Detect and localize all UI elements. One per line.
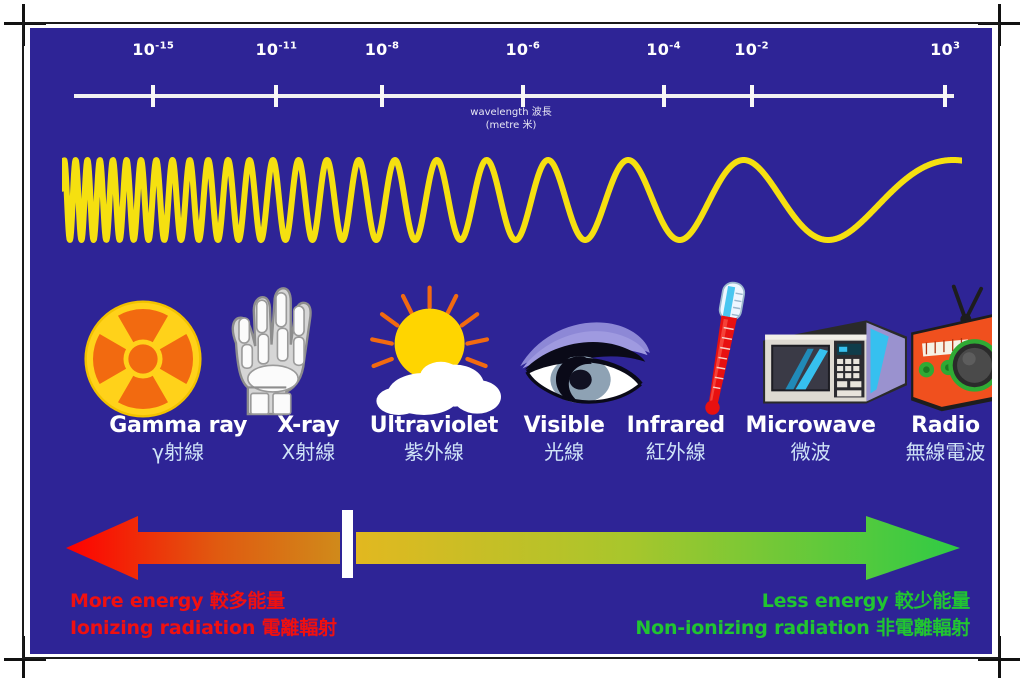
ionizing-radiation-text: Ionizing radiation 電離輻射 <box>70 615 337 642</box>
frame-line-left <box>22 22 24 659</box>
less-energy-text: Less energy 較少能量 <box>635 588 970 615</box>
scale-tick-label-6: 103 <box>930 40 960 59</box>
scale-tick-5 <box>750 85 754 107</box>
wavelength-caption-line2: (metre 米) <box>30 119 992 132</box>
scale-tick-label-1: 10-11 <box>255 40 297 59</box>
scale-tick-1 <box>274 85 278 107</box>
band-label-zh-radio: 無線電波 <box>855 439 992 465</box>
energy-arrow-svg <box>30 506 992 596</box>
spectrum-poster: 10-1510-1110-810-610-410-2103 wavelength… <box>0 0 1024 681</box>
energy-arrows <box>30 506 992 596</box>
frame-line-bottom <box>22 657 1000 659</box>
ionizing-caption: More energy 較多能量 Ionizing radiation 電離輻射 <box>70 588 337 642</box>
scale-tick-label-4: 10-4 <box>646 40 681 59</box>
scale-tick-label-2: 10-8 <box>365 40 400 59</box>
electromagnetic-wave <box>62 140 962 260</box>
scale-tick-label-0: 10-15 <box>132 40 174 59</box>
diagram-panel: 10-1510-1110-810-610-410-2103 wavelength… <box>30 28 992 654</box>
icon-cell-radio <box>893 270 992 420</box>
band-label-row: Gamma rayγ射線X-rayX射線Ultraviolet紫外線Visibl… <box>48 413 978 493</box>
icon-cell-xray <box>188 270 358 420</box>
scale-tick-2 <box>380 85 384 107</box>
radio-receiver-icon <box>902 280 992 420</box>
wave-svg <box>62 140 962 260</box>
scale-tick-0 <box>151 85 155 107</box>
radiation-trefoil-icon <box>82 298 204 420</box>
more-energy-text: More energy 較多能量 <box>70 588 337 615</box>
scale-tick-3 <box>521 85 525 107</box>
band-label-radio: Radio無線電波 <box>855 413 992 465</box>
wavelength-caption: wavelength 波長 (metre 米) <box>30 106 992 132</box>
scale-tick-label-3: 10-6 <box>506 40 541 59</box>
non-ionizing-caption: Less energy 較少能量 Non-ionizing radiation … <box>635 588 970 642</box>
icon-cell-ultraviolet <box>353 270 523 420</box>
thermometer-icon <box>693 276 753 420</box>
less-energy-arrow <box>356 516 960 580</box>
xray-hand-icon <box>221 278 325 420</box>
band-label-en-radio: Radio <box>855 413 992 439</box>
energy-captions: More energy 較多能量 Ionizing radiation 電離輻射… <box>30 588 992 654</box>
more-energy-arrow <box>66 516 340 580</box>
spectrum-midpoint-divider <box>342 510 353 578</box>
band-icon-row <box>48 270 978 420</box>
wavelength-scale: 10-1510-1110-810-610-410-2103 wavelength… <box>30 28 992 138</box>
eye-icon <box>518 308 652 420</box>
non-ionizing-radiation-text: Non-ionizing radiation 非電離輻射 <box>635 615 970 642</box>
scale-tick-label-5: 10-2 <box>734 40 769 59</box>
frame-line-right <box>998 22 1000 659</box>
scale-axis-line <box>74 94 954 98</box>
sun-cloud-icon <box>368 284 508 420</box>
frame-line-top <box>22 22 1000 24</box>
scale-tick-6 <box>943 85 947 107</box>
wave-path <box>62 160 962 240</box>
scale-tick-4 <box>662 85 666 107</box>
microwave-oven-icon <box>757 310 909 420</box>
icon-cell-visible <box>500 270 670 420</box>
wavelength-caption-line1: wavelength 波長 <box>30 106 992 119</box>
